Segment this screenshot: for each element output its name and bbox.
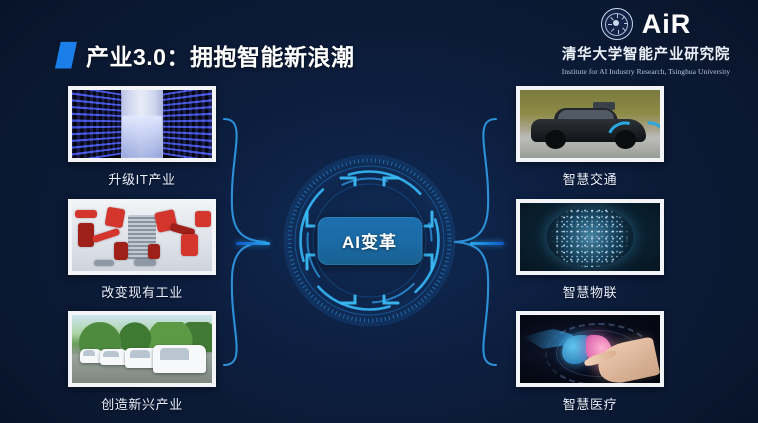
thumbnail-frame[interactable] [516, 86, 664, 162]
item-caption: 升级IT产业 [68, 169, 216, 188]
black-self-driving-test-car-image [520, 90, 660, 158]
logo-org-cn: 清华大学智能产业研究院 [556, 43, 736, 64]
thumbnail-frame[interactable] [516, 311, 664, 387]
item-caption: 改变现有工业 [68, 282, 216, 301]
list-item[interactable]: 智慧交通 [516, 86, 664, 188]
logo-org-en: Institute for AI Industry Research, Tsin… [556, 67, 736, 76]
item-caption: 智慧交通 [516, 169, 664, 188]
industrial-robot-arms-image [72, 203, 212, 271]
logo-top-row: AiR [556, 8, 736, 40]
item-caption: 创造新兴产业 [68, 394, 216, 413]
white-autonomous-cars-image [72, 315, 212, 383]
list-item[interactable]: 智慧医疗 [516, 311, 664, 413]
digital-brain-hand-image [520, 315, 660, 383]
tsinghua-seal-icon [601, 8, 633, 40]
data-center-server-racks-image [72, 90, 212, 158]
list-item[interactable]: 改变现有工业 [68, 199, 216, 301]
thumbnail-frame[interactable] [68, 86, 216, 162]
air-wordmark: AiR [642, 11, 692, 38]
center-badge-label: AI变革 [342, 228, 397, 253]
page-title: 产业3.0：拥抱智能新浪潮 [55, 38, 354, 72]
connector-line-icon [470, 242, 504, 245]
center-badge[interactable]: AI变革 [317, 217, 422, 265]
item-caption: 智慧物联 [516, 282, 664, 301]
connector-line-icon [236, 242, 270, 245]
item-caption: 智慧医疗 [516, 394, 664, 413]
air-logo: AiR 清华大学智能产业研究院 Institute for AI Industr… [556, 8, 736, 76]
parallelogram-accent-icon [55, 42, 77, 69]
center-hub[interactable]: AI变革 [281, 152, 458, 329]
list-item[interactable]: 智慧物联 [516, 199, 664, 301]
slide-canvas: 产业3.0：拥抱智能新浪潮 AiR 清华大学智能产业研究院 Institute … [0, 0, 758, 423]
list-item[interactable]: 创造新兴产业 [68, 311, 216, 413]
iot-network-sphere-image [520, 203, 660, 271]
page-title-text: 产业3.0：拥抱智能新浪潮 [86, 38, 354, 72]
list-item[interactable]: 升级IT产业 [68, 86, 216, 188]
thumbnail-frame[interactable] [68, 311, 216, 387]
thumbnail-frame[interactable] [516, 199, 664, 275]
thumbnail-frame[interactable] [68, 199, 216, 275]
